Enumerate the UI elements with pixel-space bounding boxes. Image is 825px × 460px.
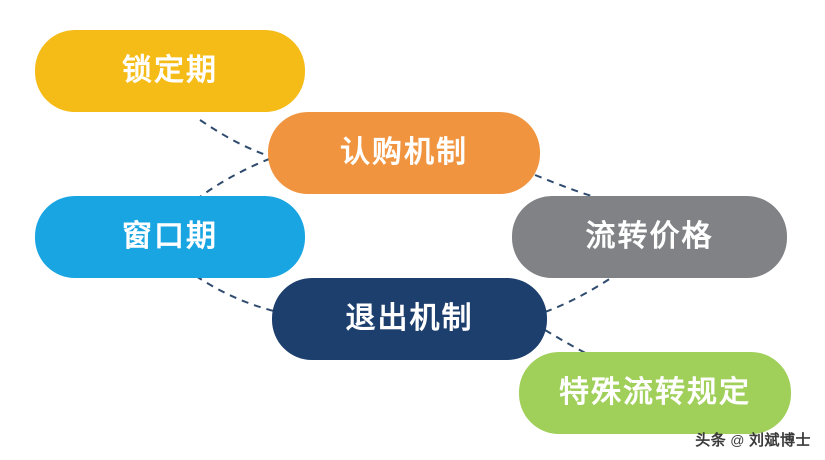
connector-exit-to-price [545, 276, 614, 312]
watermark-at-symbol: @ [730, 432, 745, 448]
diagram-canvas: 锁定期 认购机制 流转价格 窗口期 退出机制 特殊流转规定 头条 @ 刘斌博士 [0, 0, 825, 460]
node-exit-mechanism[interactable]: 退出机制 [272, 278, 547, 360]
node-label-exit-mechanism: 退出机制 [346, 304, 474, 334]
watermark-source: 头条 [695, 429, 726, 450]
node-label-window-period: 窗口期 [122, 222, 218, 252]
node-window-period[interactable]: 窗口期 [35, 196, 305, 278]
node-label-subscription-mechanism: 认购机制 [340, 138, 468, 168]
node-label-lockup-period: 锁定期 [122, 56, 218, 86]
connector-window-to-subscription [196, 158, 272, 200]
node-lockup-period[interactable]: 锁定期 [35, 30, 305, 112]
node-subscription-mechanism[interactable]: 认购机制 [268, 112, 540, 194]
watermark-author: 刘斌博士 [749, 429, 811, 450]
node-transfer-price[interactable]: 流转价格 [512, 196, 787, 278]
node-label-special-transfer-rules: 特殊流转规定 [559, 378, 751, 408]
watermark: 头条 @ 刘斌博士 [695, 429, 811, 450]
node-label-transfer-price: 流转价格 [586, 222, 714, 252]
connector-window-to-exit [196, 276, 278, 312]
node-special-transfer-rules[interactable]: 特殊流转规定 [519, 352, 791, 434]
connector-lockup-to-subscription [200, 120, 275, 158]
